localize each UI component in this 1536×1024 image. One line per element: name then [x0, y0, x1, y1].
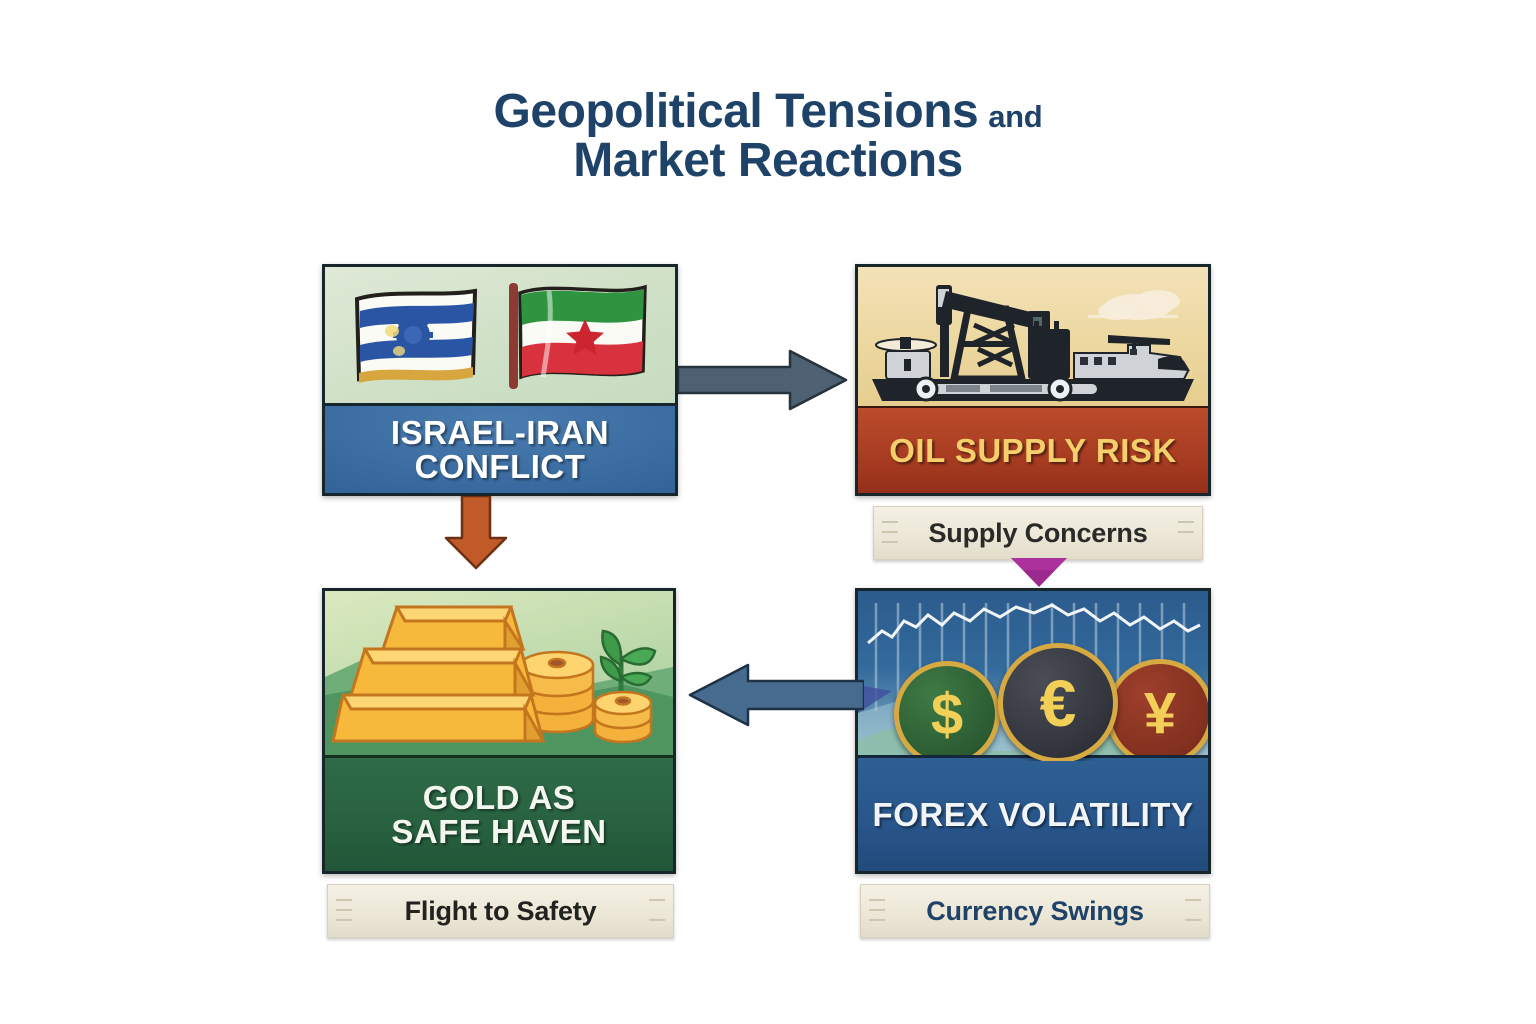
paper-tick	[649, 919, 665, 921]
paper-tick	[336, 899, 352, 901]
paper-tick	[1185, 919, 1201, 921]
page-title-line-1: Geopolitical Tensionsand	[0, 88, 1536, 137]
conflict-label-band: ISRAEL-IRAN CONFLICT	[325, 403, 675, 493]
gold-label: GOLD AS SAFE HAVEN	[391, 781, 606, 848]
label-currency-swings: Currency Swings	[860, 884, 1210, 938]
label-flight-to-safety-text: Flight to Safety	[405, 896, 597, 927]
usd-symbol: $	[931, 681, 963, 748]
oil-label-band: OIL SUPPLY RISK	[858, 406, 1208, 493]
page-title-line-2: Market Reactions	[0, 137, 1536, 186]
gold-label-band: GOLD AS SAFE HAVEN	[325, 755, 673, 871]
paper-tick	[336, 909, 352, 911]
label-currency-swings-text: Currency Swings	[926, 896, 1144, 927]
paper-tick	[1178, 531, 1194, 533]
label-supply-concerns: Supply Concerns	[873, 506, 1203, 560]
paper-tick	[869, 919, 885, 921]
page-title-conjunction: and	[988, 99, 1042, 134]
eur-symbol: €	[1040, 665, 1077, 741]
arrow-supply-to-forex-icon	[1011, 558, 1067, 588]
israel-flag-icon	[351, 285, 481, 387]
arrow-forex-to-gold-icon	[686, 663, 864, 727]
paper-tick	[1185, 899, 1201, 901]
paper-tick	[882, 531, 898, 533]
paper-tick	[649, 899, 665, 901]
forex-label-band: FOREX VOLATILITY	[858, 755, 1208, 871]
gold-bars-coins-icon	[325, 591, 673, 761]
eur-coin-icon: €	[998, 643, 1118, 761]
card-forex-volatility[interactable]: $ € ¥ FOREX VOLATILITY	[855, 588, 1211, 874]
oil-rig-tanker-icon	[858, 267, 1208, 411]
arrow-conflict-to-gold-icon	[442, 496, 510, 570]
jpy-coin-icon: ¥	[1106, 659, 1208, 761]
gold-label-line-1: GOLD AS	[423, 779, 576, 816]
oil-artwork	[858, 267, 1208, 411]
iran-flag-icon	[503, 281, 651, 391]
arrow-conflict-to-oil-icon	[678, 349, 848, 411]
page-title: Geopolitical Tensionsand Market Reaction…	[0, 88, 1536, 186]
usd-coin-icon: $	[894, 661, 1000, 761]
card-oil-supply-risk[interactable]: OIL SUPPLY RISK	[855, 264, 1211, 496]
conflict-label-line-2: CONFLICT	[415, 448, 586, 485]
paper-tick	[869, 899, 885, 901]
paper-tick	[882, 541, 898, 543]
paper-tick	[869, 909, 885, 911]
label-flight-to-safety: Flight to Safety	[327, 884, 674, 938]
gold-label-line-2: SAFE HAVEN	[391, 813, 606, 850]
conflict-label-line-1: ISRAEL-IRAN	[391, 414, 609, 451]
forex-artwork: $ € ¥	[858, 591, 1208, 761]
paper-tick	[1178, 521, 1194, 523]
page-title-main: Geopolitical Tensions	[494, 85, 979, 138]
card-israel-iran-conflict[interactable]: ISRAEL-IRAN CONFLICT	[322, 264, 678, 496]
conflict-artwork	[325, 267, 675, 409]
label-supply-concerns-text: Supply Concerns	[928, 518, 1147, 549]
paper-tick	[882, 521, 898, 523]
forex-label: FOREX VOLATILITY	[873, 798, 1194, 832]
paper-tick	[336, 919, 352, 921]
card-gold-safe-haven[interactable]: GOLD AS SAFE HAVEN	[322, 588, 676, 874]
jpy-symbol: ¥	[1144, 680, 1176, 747]
gold-artwork	[325, 591, 673, 761]
oil-label: OIL SUPPLY RISK	[889, 434, 1176, 468]
conflict-label: ISRAEL-IRAN CONFLICT	[391, 416, 609, 483]
